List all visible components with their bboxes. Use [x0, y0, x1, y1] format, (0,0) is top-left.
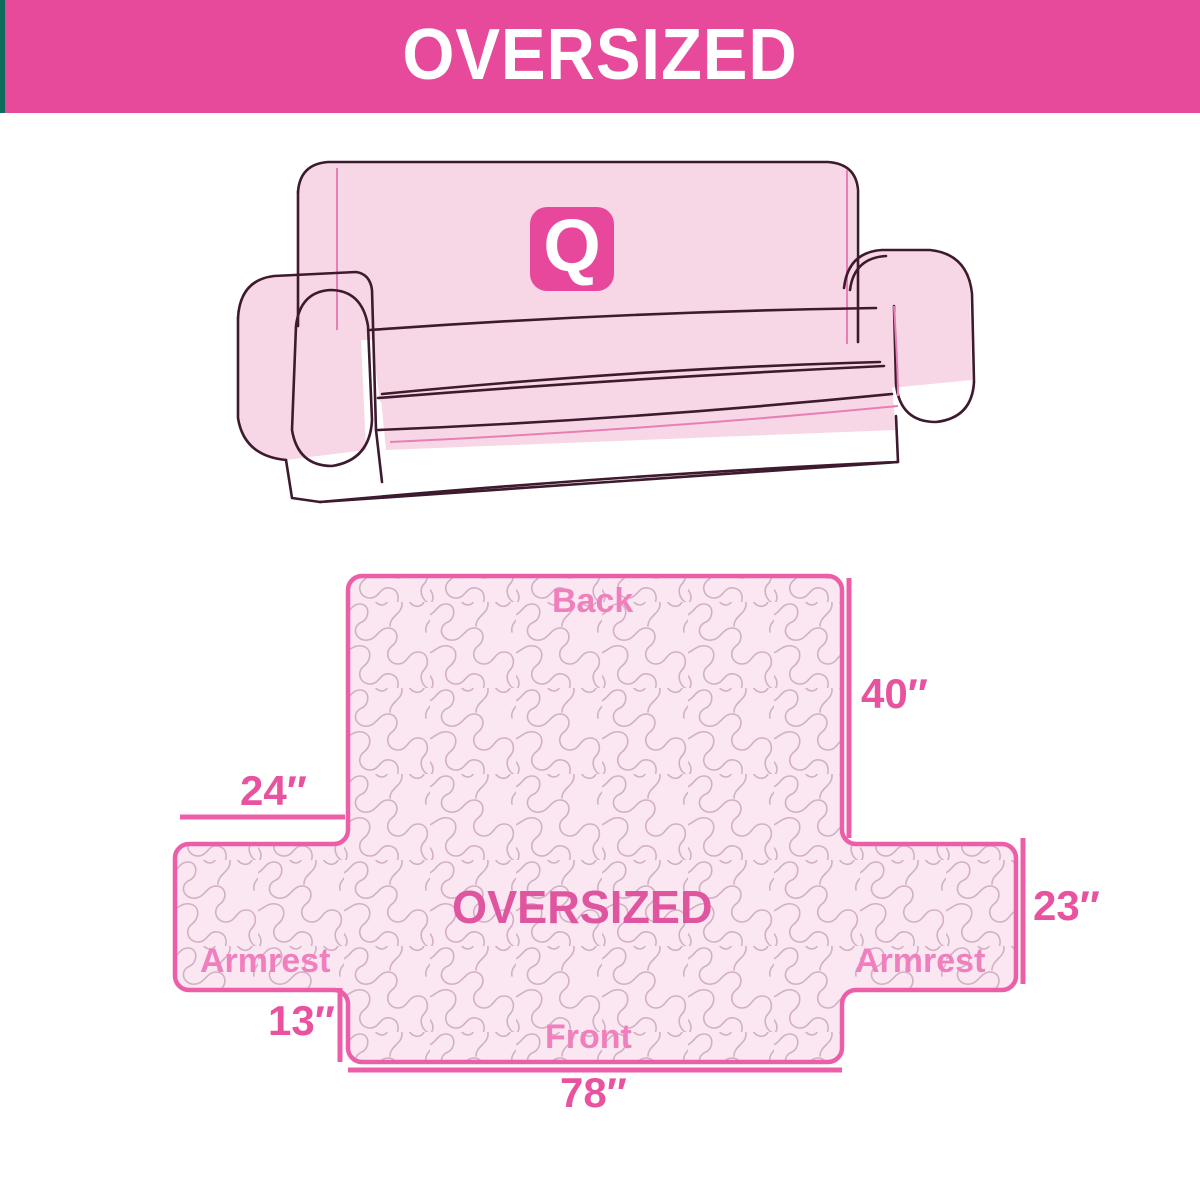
dimension-label-total-width: 78″	[560, 1072, 627, 1114]
dimension-label-back-height: 40″	[861, 673, 928, 715]
panel-label-armrest-right: Armrest	[855, 944, 985, 978]
panel-label-back: Back	[552, 584, 633, 618]
dimension-label-armrest-height: 23″	[1033, 885, 1100, 927]
panel-label-front: Front	[545, 1020, 632, 1054]
center-size-label: OVERSIZED	[452, 884, 713, 930]
size-chart-page: OVERSIZED .so { fill: none; stroke: #3d1…	[0, 0, 1200, 1200]
dimension-label-back-offset: 24″	[240, 770, 307, 812]
panel-label-armrest-left: Armrest	[200, 944, 330, 978]
dimension-label-front-offset: 13″	[268, 1000, 335, 1042]
